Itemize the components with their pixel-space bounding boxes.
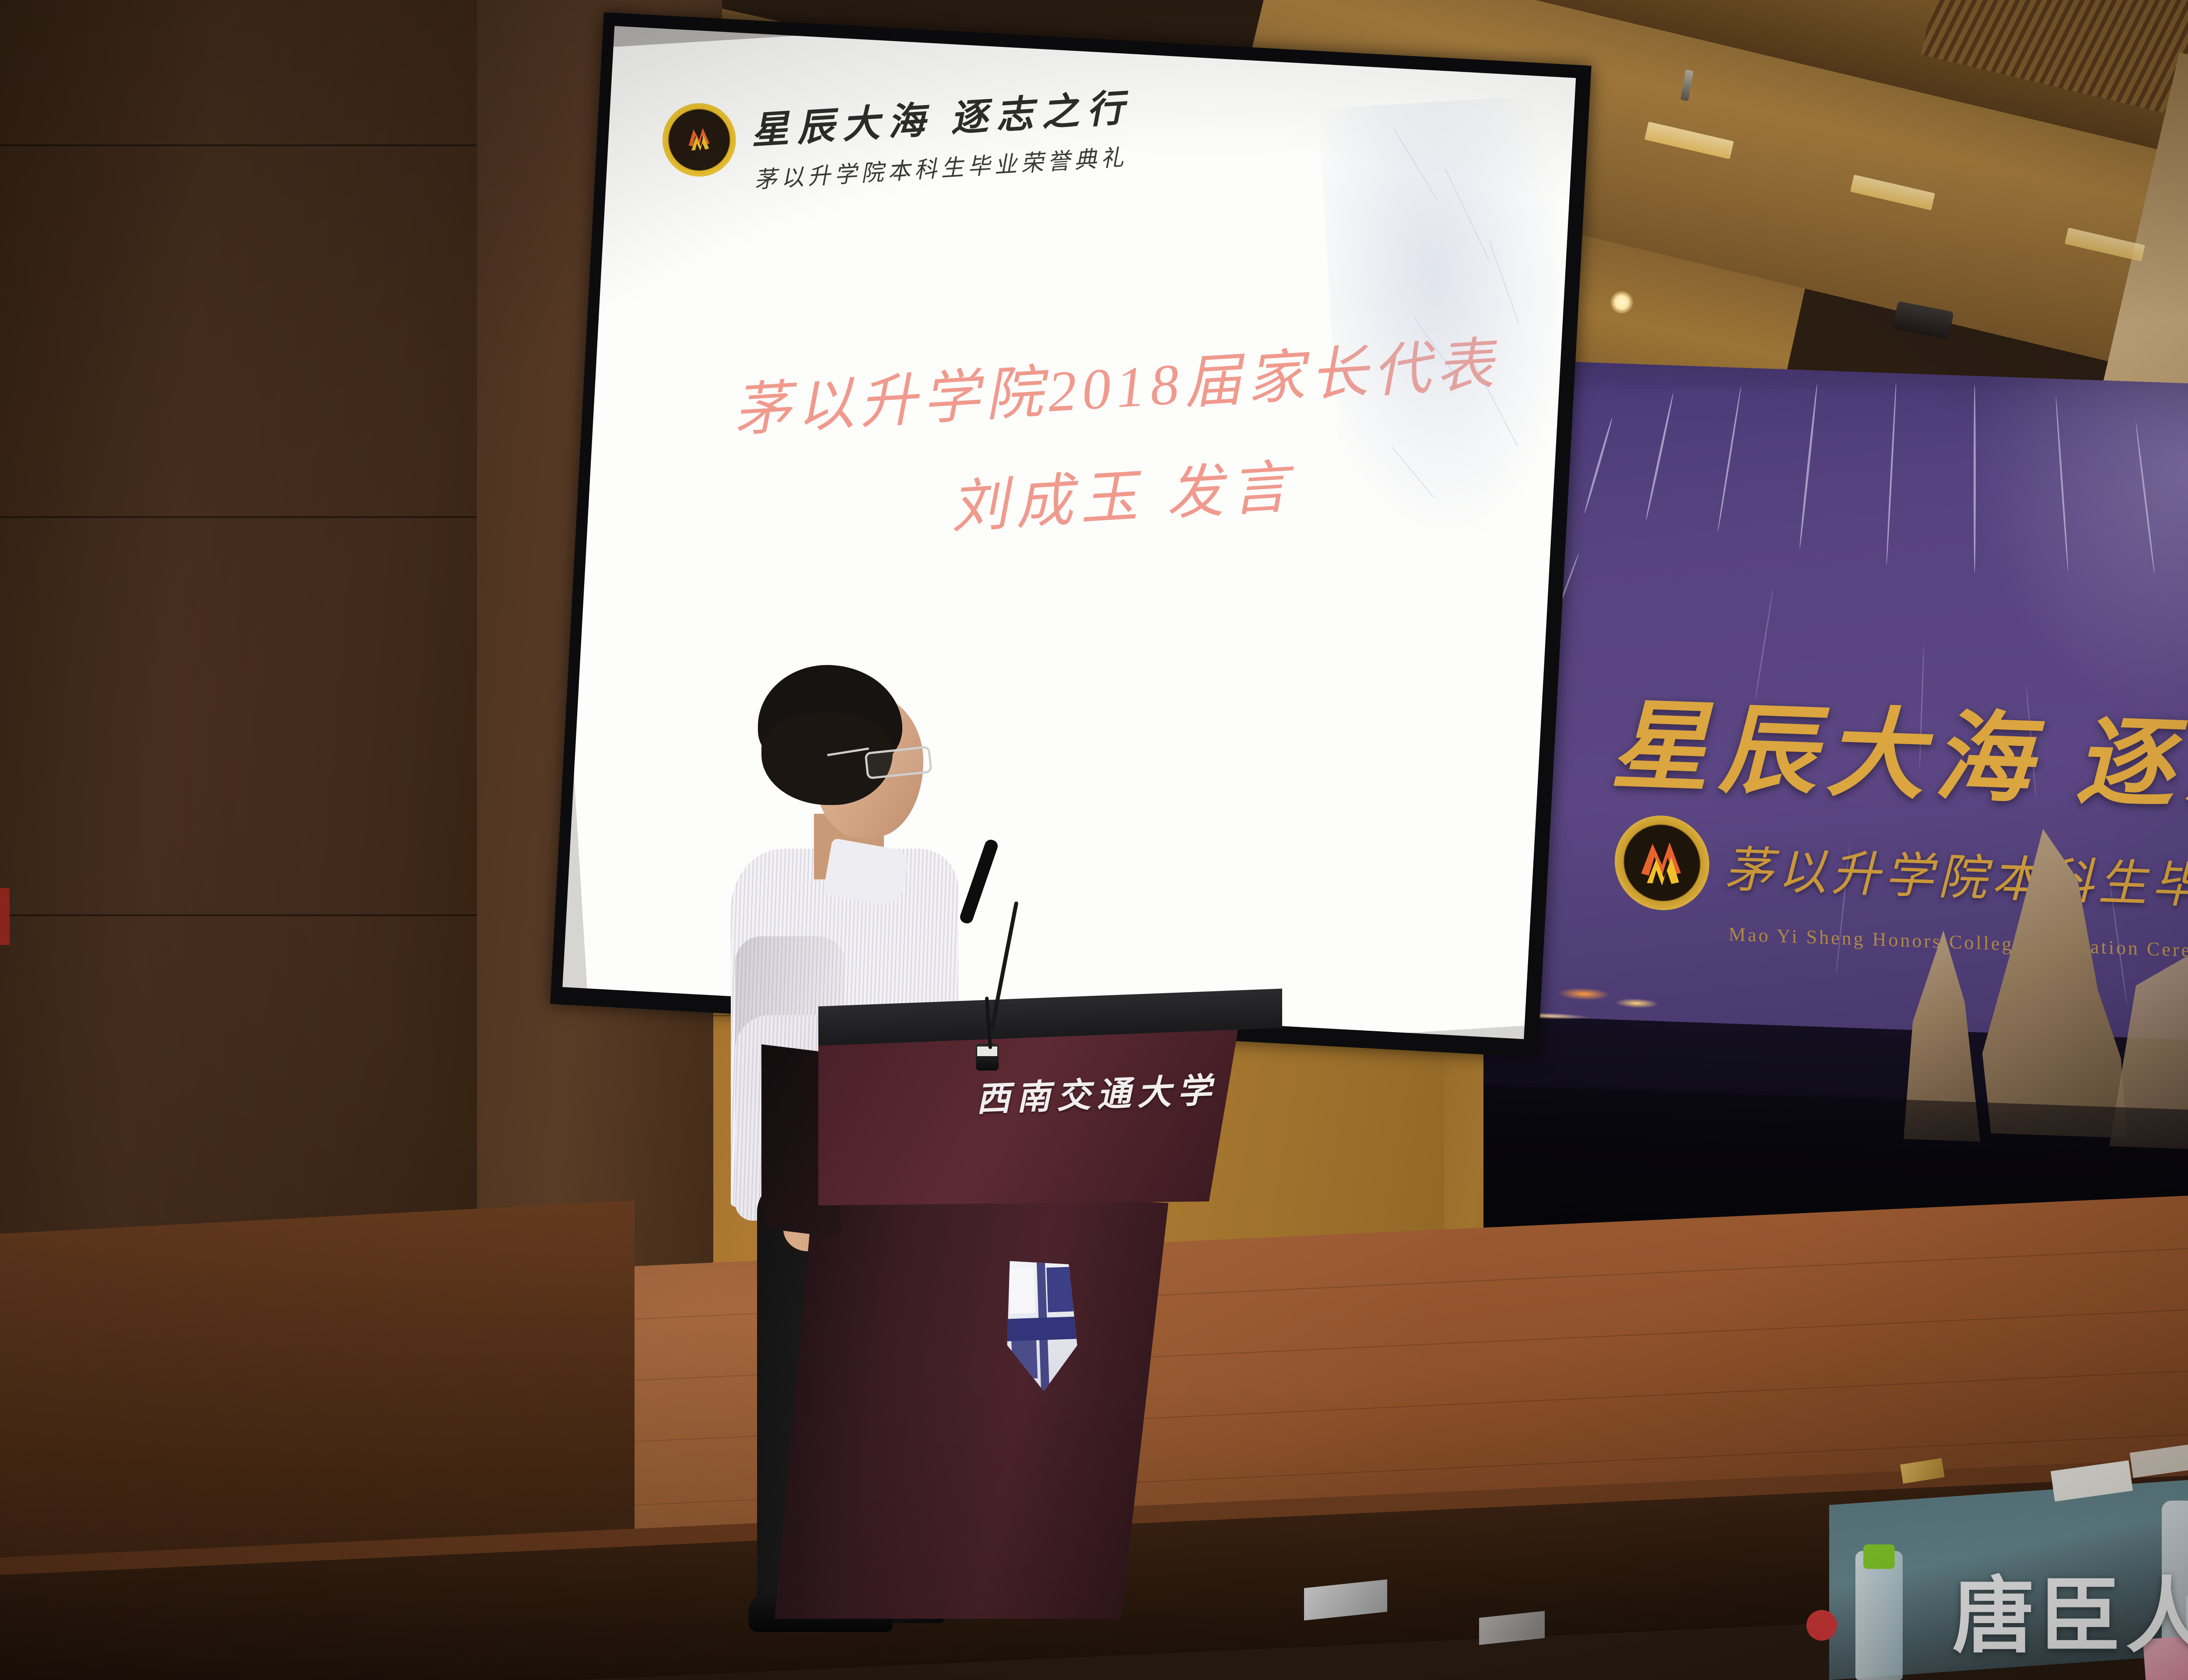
podium: 西南交通大学 [818, 997, 1322, 1619]
slide-header: 星辰大海 逐志之行 茅以升学院本科生毕业荣誉典礼 [660, 77, 1136, 199]
mys-college-logo-icon [1615, 814, 1709, 912]
microphone-label-band [977, 1046, 997, 1056]
banner-subtitle: 茅以升学院本科生毕业荣誉典礼 [1724, 829, 2188, 927]
slide-starfield-graphic [1318, 93, 1576, 590]
podium-column [775, 1186, 1168, 1619]
bottle-cap-green [1863, 1544, 1895, 1569]
auditorium-photo: 星辰大海 逐志之行 茅以升学院本科生毕业荣誉典礼 Mao Yi Sheng Ho… [0, 0, 2188, 1680]
podium-university-name: 西南交通大学 [975, 1063, 1218, 1121]
banner-subtitle-row: 茅以升学院本科生毕业荣誉典礼 [1615, 814, 2188, 938]
mys-college-logo-icon [660, 101, 738, 179]
bottle-cap-red [1806, 1610, 1837, 1641]
banner-title: 星辰大海 逐志之行 [1610, 665, 2188, 838]
banner-english-subtitle: Mao Yi Sheng Honors College Graduation C… [1729, 923, 2188, 963]
water-bottle-1 [1855, 1551, 1903, 1680]
ceiling-spotlight-2 [1610, 291, 1633, 314]
photo-watermark: 唐臣人·新传媒 [1952, 1550, 2188, 1669]
